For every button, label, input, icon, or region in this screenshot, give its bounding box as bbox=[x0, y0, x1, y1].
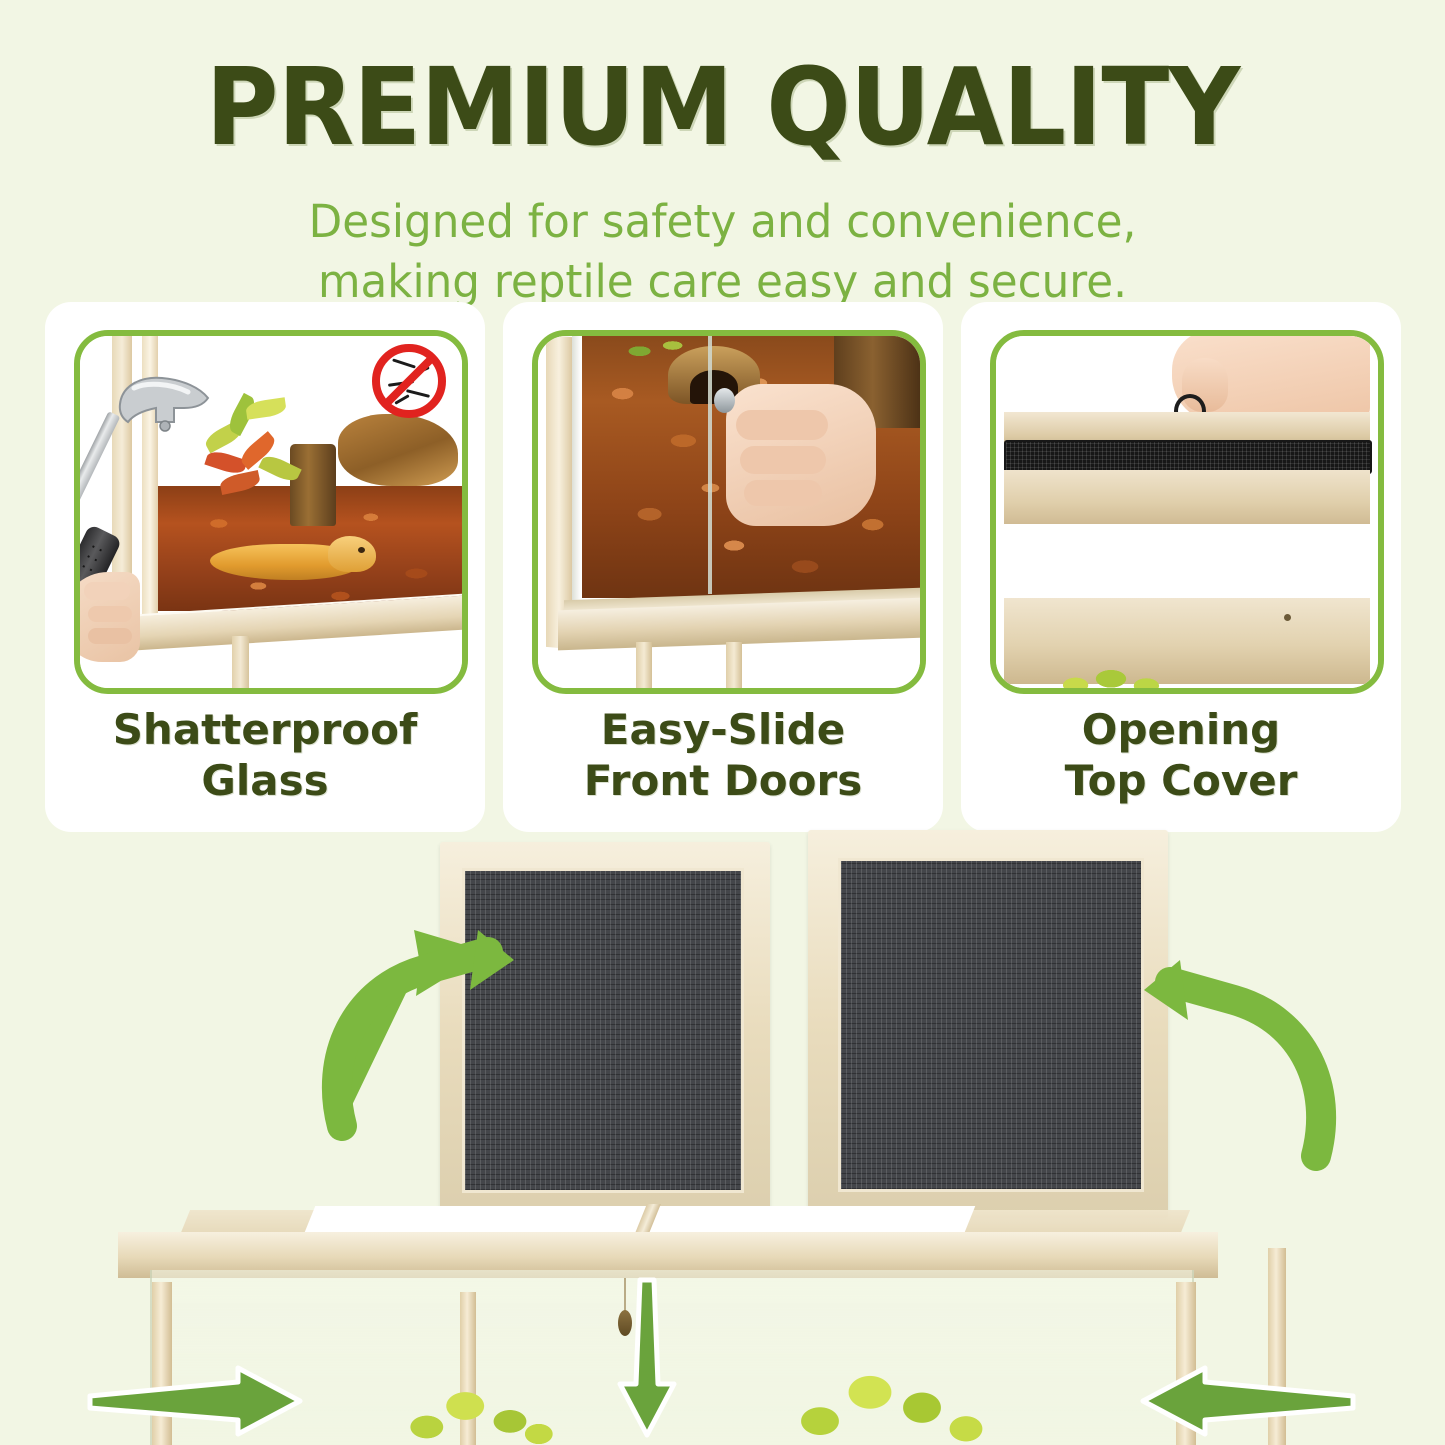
feature-card-shatterproof-glass: Shatterproof Glass bbox=[45, 302, 485, 832]
feature-card-easy-slide-front-doors: Easy-Slide Front Doors bbox=[503, 302, 943, 832]
feature-photo-easy-slide-front-doors bbox=[532, 330, 926, 694]
arrow-left-icon bbox=[1140, 1368, 1355, 1438]
feature-label-easy-slide-front-doors: Easy-Slide Front Doors bbox=[503, 704, 943, 806]
plant-decor bbox=[1052, 666, 1170, 688]
curved-arrow-right-icon bbox=[328, 930, 518, 1130]
page-title: PREMIUM QUALITY bbox=[51, 52, 1395, 164]
feature-card-opening-top-cover: Opening Top Cover bbox=[961, 302, 1401, 832]
hand bbox=[726, 384, 876, 526]
plant-decor-left bbox=[398, 1378, 558, 1445]
hand bbox=[80, 572, 140, 662]
arrow-right-icon bbox=[88, 1368, 303, 1438]
feature-photo-shatterproof-glass bbox=[74, 330, 468, 694]
feature-photo-opening-top-cover bbox=[990, 330, 1384, 694]
page-subtitle: Designed for safety and convenience, mak… bbox=[22, 192, 1424, 312]
mesh-top-cover-right bbox=[808, 830, 1168, 1218]
door-knob bbox=[714, 388, 735, 413]
plant-decor-right bbox=[790, 1352, 990, 1445]
no-crack-icon bbox=[372, 344, 446, 418]
feature-label-line-1: Easy-Slide bbox=[503, 704, 943, 755]
feature-label-line-2: Front Doors bbox=[503, 755, 943, 806]
feature-label-line-2: Glass bbox=[45, 755, 485, 806]
feature-card-row: Shatterproof Glass bbox=[45, 302, 1401, 832]
arrow-down-icon bbox=[612, 1278, 682, 1438]
mesh-top-cover bbox=[1004, 440, 1372, 474]
sliding-glass-door bbox=[708, 336, 712, 594]
feature-label-line-1: Shatterproof bbox=[45, 704, 485, 755]
hero-product-photo bbox=[0, 830, 1445, 1445]
curved-arrow-left-icon bbox=[1140, 960, 1330, 1160]
subtitle-line-1: Designed for safety and convenience, bbox=[22, 192, 1424, 252]
feature-label-opening-top-cover: Opening Top Cover bbox=[961, 704, 1401, 806]
hammer-icon bbox=[112, 374, 216, 436]
feature-label-line-2: Top Cover bbox=[961, 755, 1401, 806]
infographic-page: PREMIUM QUALITY Designed for safety and … bbox=[0, 0, 1445, 1445]
feature-label-shatterproof-glass: Shatterproof Glass bbox=[45, 704, 485, 806]
feature-label-line-1: Opening bbox=[961, 704, 1401, 755]
bearded-dragon bbox=[210, 532, 376, 594]
